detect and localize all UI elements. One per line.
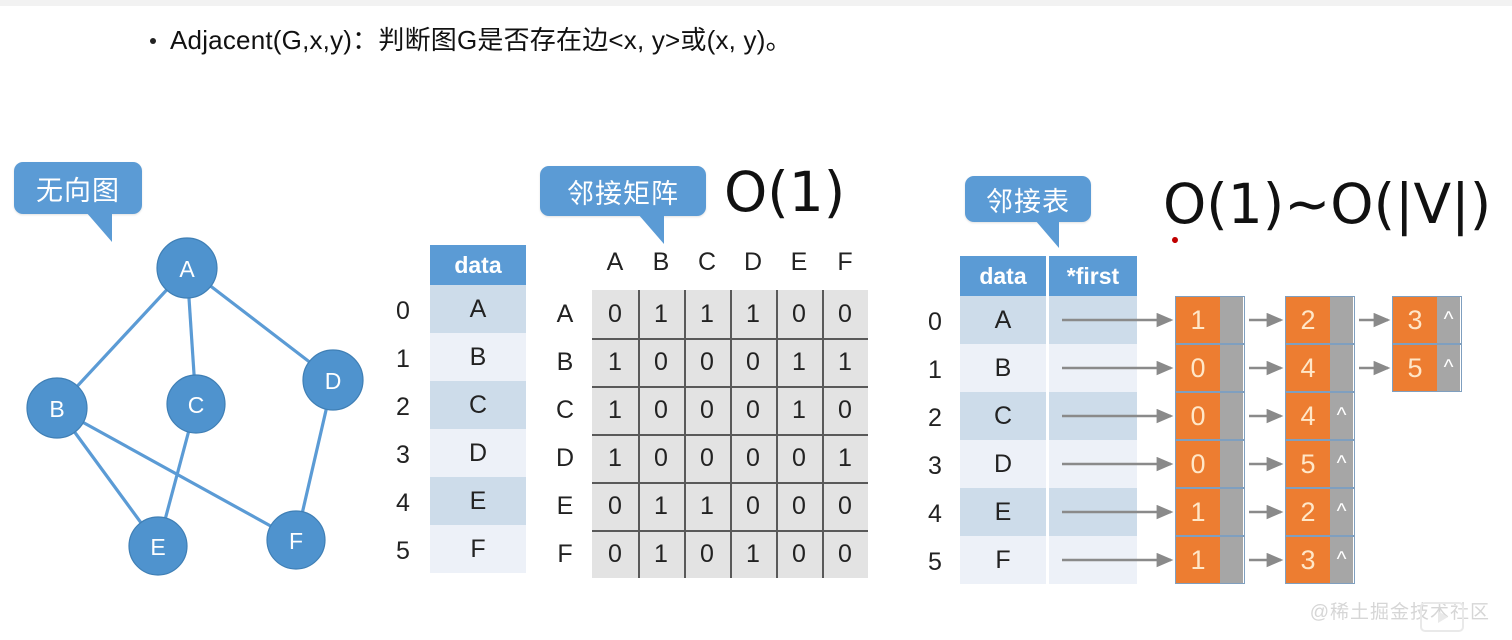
list-node-value: 2 (1286, 297, 1330, 343)
list-node: 0 (1175, 392, 1245, 440)
list-node-next-pointer (1220, 441, 1243, 487)
list-node: 5^ (1392, 344, 1462, 392)
list-node: 2 (1285, 296, 1355, 344)
list-node-null-pointer: ^ (1330, 441, 1353, 487)
list-node-null-pointer: ^ (1437, 345, 1460, 391)
list-node: 5^ (1285, 440, 1355, 488)
list-node-next-pointer (1220, 489, 1243, 535)
list-node: 0 (1175, 344, 1245, 392)
list-node: 3^ (1285, 536, 1355, 584)
list-node-null-pointer: ^ (1330, 393, 1353, 439)
list-node: 1 (1175, 536, 1245, 584)
list-node-value: 2 (1286, 489, 1330, 535)
list-node: 1 (1175, 488, 1245, 536)
list-node-next-pointer (1330, 345, 1353, 391)
list-node-value: 0 (1176, 393, 1220, 439)
list-node: 4 (1285, 344, 1355, 392)
list-node-value: 3 (1393, 297, 1437, 343)
list-node-value: 5 (1393, 345, 1437, 391)
list-node-next-pointer (1330, 297, 1353, 343)
list-node: 0 (1175, 440, 1245, 488)
list-node-value: 0 (1176, 345, 1220, 391)
list-node-value: 1 (1176, 537, 1220, 583)
list-node-value: 4 (1286, 393, 1330, 439)
list-node-next-pointer (1220, 393, 1243, 439)
list-node-value: 1 (1176, 297, 1220, 343)
list-node: 2^ (1285, 488, 1355, 536)
list-node-null-pointer: ^ (1330, 537, 1353, 583)
list-node-next-pointer (1220, 297, 1243, 343)
list-node-value: 3 (1286, 537, 1330, 583)
list-node-value: 4 (1286, 345, 1330, 391)
list-node: 1 (1175, 296, 1245, 344)
list-node: 4^ (1285, 392, 1355, 440)
list-node-next-pointer (1220, 345, 1243, 391)
list-node-value: 1 (1176, 489, 1220, 535)
list-node-value: 5 (1286, 441, 1330, 487)
list-node: 3^ (1392, 296, 1462, 344)
list-node-value: 0 (1176, 441, 1220, 487)
list-node-next-pointer (1220, 537, 1243, 583)
watermark: @稀土掘金技术社区 (1310, 597, 1490, 624)
list-node-null-pointer: ^ (1330, 489, 1353, 535)
play-button-icon (1420, 602, 1464, 632)
list-node-null-pointer: ^ (1437, 297, 1460, 343)
